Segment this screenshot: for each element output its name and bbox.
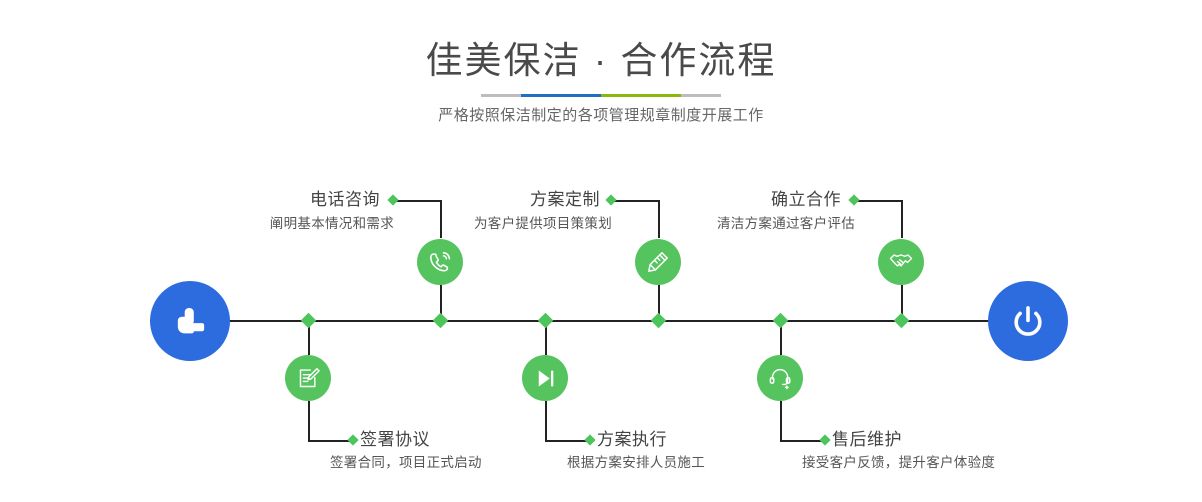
label-subtitle-step-2: 签署合同，项目正式启动 <box>330 453 590 473</box>
divider-blue-segment <box>521 94 601 97</box>
axis-marker-step-1 <box>433 313 449 329</box>
divider-green-segment <box>601 94 681 97</box>
axis-marker-step-2 <box>301 313 317 329</box>
axis-marker-step-6 <box>773 313 789 329</box>
node-step-2[interactable] <box>285 355 331 401</box>
connector-vertical-step-1 <box>440 200 442 238</box>
label-marker-step-4 <box>584 434 595 445</box>
label-marker-step-2 <box>347 434 358 445</box>
node-step-1[interactable] <box>417 239 463 285</box>
label-subtitle-step-1: 阐明基本情况和需求 <box>150 214 394 234</box>
flow-start-endpoint[interactable] <box>150 281 230 361</box>
connector-vertical-step-3 <box>658 200 660 238</box>
label-subtitle-step-5: 清洁方案通过客户评估 <box>600 214 855 234</box>
timeline-axis <box>150 320 1054 322</box>
node-step-5[interactable] <box>878 239 924 285</box>
pencil-ruler-icon <box>644 248 672 276</box>
connector-horizontal-step-1 <box>393 200 441 202</box>
label-title-step-6: 售后维护 <box>832 429 1062 451</box>
page-title: 佳美保洁 · 合作流程 <box>0 38 1202 84</box>
pointing-hand-icon <box>168 299 212 343</box>
page-subtitle: 严格按照保洁制定的各项管理规章制度开展工作 <box>0 105 1202 127</box>
connector-horizontal-step-6 <box>780 440 824 442</box>
label-title-step-5: 确立合作 <box>640 189 841 211</box>
label-marker-step-3 <box>605 194 616 205</box>
label-title-step-1: 电话咨询 <box>180 189 380 211</box>
label-marker-step-5 <box>848 194 859 205</box>
customer-support-icon <box>767 365 794 392</box>
label-subtitle-step-4: 根据方案安排人员施工 <box>567 453 827 473</box>
page-header: 佳美保洁 · 合作流程 严格按照保洁制定的各项管理规章制度开展工作 <box>0 0 1202 145</box>
title-divider <box>481 94 721 97</box>
connector-vertical-step-2 <box>308 401 310 441</box>
process-flow-page: 佳美保洁 · 合作流程 严格按照保洁制定的各项管理规章制度开展工作 <box>0 0 1202 502</box>
connector-horizontal-step-2 <box>308 440 352 442</box>
phone-call-icon <box>426 248 454 276</box>
node-step-4[interactable] <box>522 355 568 401</box>
play-execute-icon <box>532 365 559 392</box>
handshake-icon <box>887 248 915 276</box>
axis-marker-step-3 <box>651 313 667 329</box>
node-step-6[interactable] <box>757 355 803 401</box>
label-marker-step-6 <box>819 434 830 445</box>
power-icon <box>1007 300 1049 342</box>
axis-marker-step-4 <box>538 313 554 329</box>
connector-horizontal-step-5 <box>854 200 902 202</box>
label-subtitle-step-6: 接受客户反馈，提升客户体验度 <box>802 453 1092 473</box>
document-sign-icon <box>295 365 322 392</box>
connector-horizontal-step-3 <box>611 200 659 202</box>
axis-marker-step-5 <box>894 313 910 329</box>
node-step-3[interactable] <box>635 239 681 285</box>
connector-vertical-step-4 <box>545 401 547 441</box>
flow-end-endpoint[interactable] <box>988 281 1068 361</box>
connector-horizontal-step-4 <box>545 440 589 442</box>
label-marker-step-1 <box>387 194 398 205</box>
connector-vertical-step-5 <box>901 200 903 238</box>
connector-vertical-step-6 <box>780 401 782 441</box>
label-subtitle-step-3: 为客户提供项目策策划 <box>360 214 612 234</box>
